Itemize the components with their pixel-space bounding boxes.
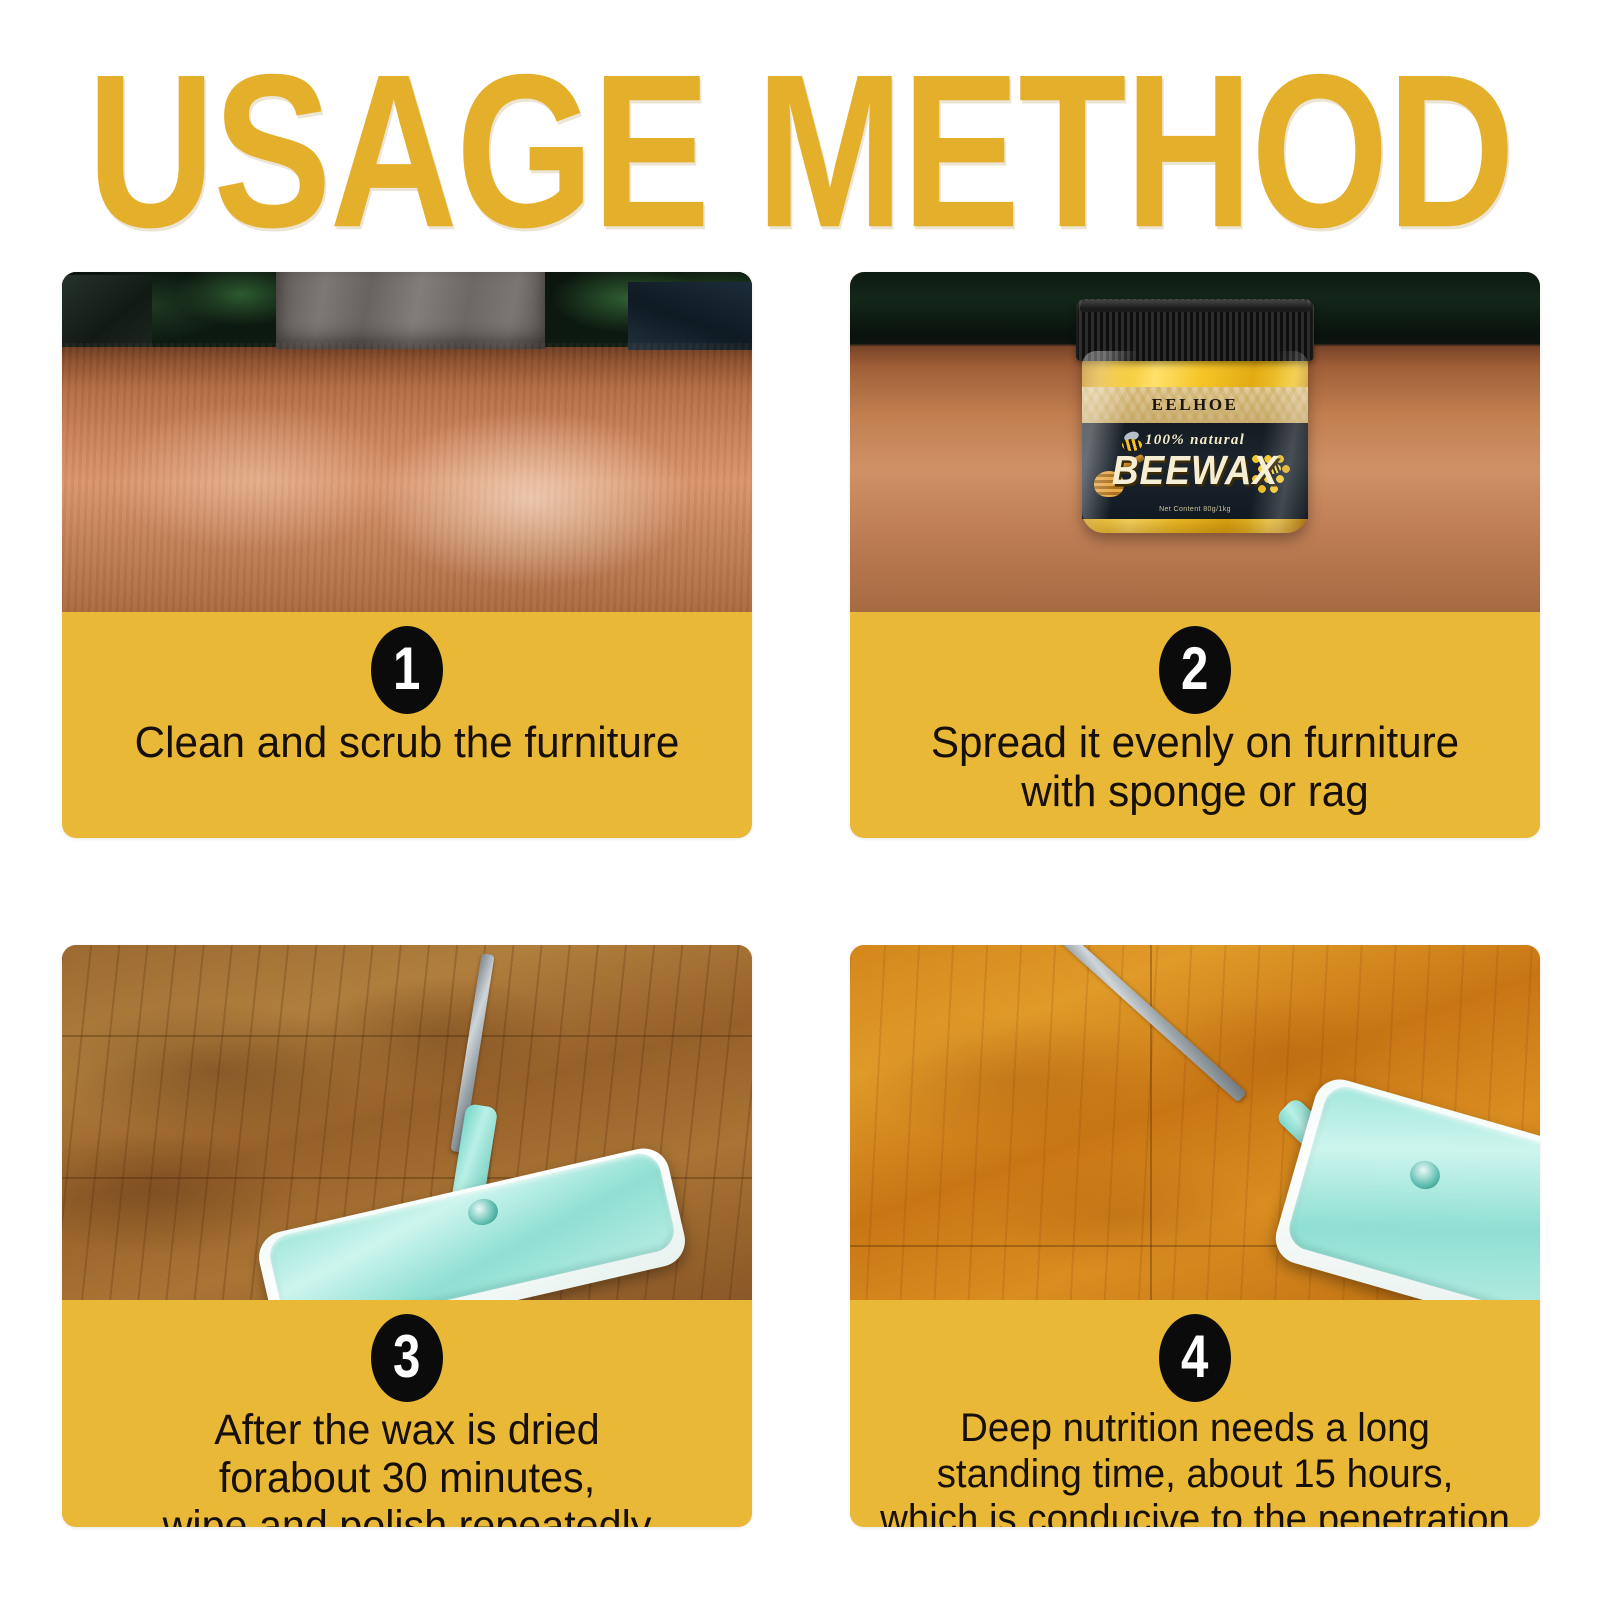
step-caption-text: Spread it evenly on furniture with spong… xyxy=(864,718,1526,833)
mop-handle xyxy=(1030,945,1247,1102)
step-2-photo: EELHOE 100% n xyxy=(850,272,1540,612)
step-1-caption: 1 Clean and scrub the furniture xyxy=(62,612,752,783)
step-4-photo xyxy=(850,945,1540,1300)
step-number-badge: 3 xyxy=(371,1314,443,1402)
plank-seam xyxy=(1150,945,1152,1300)
step-number: 4 xyxy=(1181,1327,1208,1387)
step-4-caption: 4 Deep nutrition needs a long standing t… xyxy=(850,1300,1540,1527)
steps-grid: 1 Clean and scrub the furniture EELHOE xyxy=(62,272,1540,1527)
step-number: 2 xyxy=(1181,639,1208,699)
plant-pot-left xyxy=(62,275,152,346)
step-1-photo xyxy=(62,272,752,612)
wood-floor-image xyxy=(62,272,752,612)
step-3-photo xyxy=(62,945,752,1300)
wood-floor-image: EELHOE 100% n xyxy=(850,272,1540,612)
wood-floor-image xyxy=(62,945,752,1300)
step-3-caption: 3 After the wax is dried forabout 30 min… xyxy=(62,1300,752,1527)
step-card-3[interactable]: 3 After the wax is dried forabout 30 min… xyxy=(62,945,752,1527)
step-2-caption: 2 Spread it evenly on furniture with spo… xyxy=(850,612,1540,833)
jar-label: 100% natural BEEWAX Net Content 80g/1kg xyxy=(1082,423,1308,519)
step-number: 3 xyxy=(393,1327,420,1387)
step-card-4[interactable]: 4 Deep nutrition needs a long standing t… xyxy=(850,945,1540,1527)
step-caption-text: Clean and scrub the furniture xyxy=(76,718,738,783)
step-card-2[interactable]: EELHOE 100% n xyxy=(850,272,1540,838)
plank-seam xyxy=(62,1035,752,1037)
page-title: USAGE METHOD xyxy=(87,60,1513,243)
jar-net-content: Net Content 80g/1kg xyxy=(1082,506,1308,513)
floor-gloss-highlight xyxy=(62,343,752,612)
step-caption-text: Deep nutrition needs a long standing tim… xyxy=(864,1406,1526,1527)
wood-floor-image xyxy=(850,945,1540,1300)
step-number: 1 xyxy=(393,639,420,699)
step-caption-text: After the wax is dried forabout 30 minut… xyxy=(76,1406,738,1527)
jar-lid xyxy=(1076,299,1314,361)
beewax-jar: EELHOE 100% n xyxy=(1076,299,1314,539)
step-number-badge: 1 xyxy=(371,626,443,714)
step-number-badge: 4 xyxy=(1159,1314,1231,1402)
jar-brand-band: EELHOE xyxy=(1082,387,1308,423)
step-card-1[interactable]: 1 Clean and scrub the furniture xyxy=(62,272,752,838)
jar-product-name: BEEWAX xyxy=(1082,448,1308,494)
jar-natural-claim: 100% natural xyxy=(1082,432,1308,449)
grey-drape xyxy=(276,272,545,349)
page-header: USAGE METHOD xyxy=(0,62,1601,242)
jar-brand-text: EELHOE xyxy=(1152,395,1239,415)
step-number-badge: 2 xyxy=(1159,626,1231,714)
plant-pot-right xyxy=(628,282,752,350)
